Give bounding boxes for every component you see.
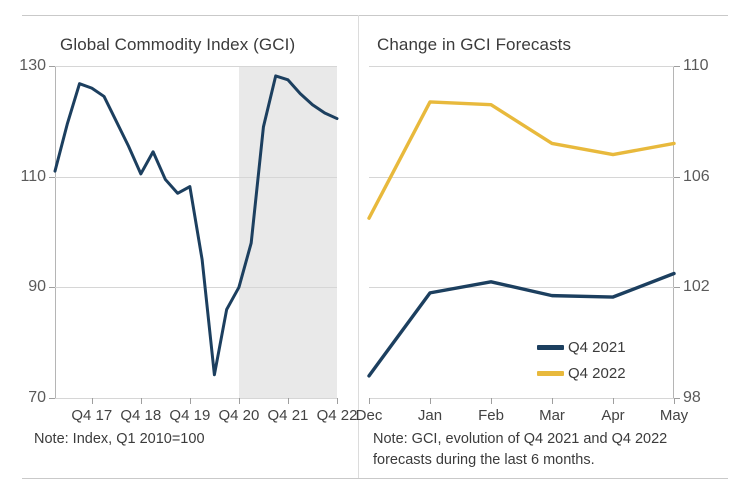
x-axis-tick-label: Q4 22: [317, 408, 358, 423]
y-axis-tick-label: 110: [683, 58, 709, 74]
x-tick-mark: [337, 398, 338, 404]
right-panel-title: Change in GCI Forecasts: [377, 35, 571, 55]
x-tick-mark: [613, 398, 614, 404]
series-layer: [55, 66, 337, 398]
bottom-divider: [22, 478, 728, 479]
x-tick-mark: [369, 398, 370, 404]
x-tick-mark: [239, 398, 240, 404]
x-tick-mark: [430, 398, 431, 404]
x-tick-mark: [552, 398, 553, 404]
x-axis-tick-label: Jan: [418, 408, 442, 423]
x-axis-tick-label: Q4 19: [169, 408, 210, 423]
gridline: [55, 398, 337, 399]
x-axis-tick-label: Q4 21: [268, 408, 309, 423]
series-line: [369, 274, 674, 376]
x-tick-mark: [141, 398, 142, 404]
x-tick-mark: [288, 398, 289, 404]
y-tick-mark: [674, 287, 680, 288]
x-axis-tick-label: Q4 18: [120, 408, 161, 423]
gci-index-plot: 1301109070Q4 17Q4 18Q4 19Q4 20Q4 21Q4 22: [55, 66, 337, 398]
gridline: [369, 398, 674, 399]
x-tick-mark: [92, 398, 93, 404]
gci-forecast-plot: Q4 2021Q4 2022 11010610298DecJanFebMarAp…: [369, 66, 674, 398]
x-axis-tick-label: Feb: [478, 408, 504, 423]
x-axis-tick-label: Apr: [601, 408, 624, 423]
right-panel-note: Note: GCI, evolution of Q4 2021 and Q4 2…: [373, 429, 713, 471]
y-axis-tick-label: 110: [20, 169, 46, 185]
y-tick-mark: [674, 66, 680, 67]
y-axis-tick-label: 102: [683, 279, 710, 295]
series-line: [55, 76, 337, 375]
chart-figure: Global Commodity Index (GCI) 1301109070Q…: [0, 0, 750, 504]
x-tick-mark: [674, 398, 675, 404]
left-panel-note: Note: Index, Q1 2010=100: [34, 429, 334, 450]
series-layer: [369, 66, 674, 398]
x-axis-tick-label: Mar: [539, 408, 565, 423]
y-axis-tick-label: 90: [28, 279, 46, 295]
x-tick-mark: [491, 398, 492, 404]
y-axis-tick-label: 98: [683, 390, 701, 406]
x-tick-mark: [190, 398, 191, 404]
y-axis-tick-label: 130: [19, 58, 46, 74]
y-tick-mark: [49, 398, 55, 399]
series-line: [369, 102, 674, 218]
y-axis-tick-label: 106: [683, 169, 710, 185]
x-axis-tick-label: Q4 20: [218, 408, 259, 423]
x-axis-tick-label: Q4 17: [71, 408, 112, 423]
left-panel-title: Global Commodity Index (GCI): [60, 35, 295, 55]
x-axis-tick-label: Dec: [356, 408, 383, 423]
y-axis-tick-label: 70: [28, 390, 46, 406]
left-panel: Global Commodity Index (GCI) 1301109070Q…: [22, 15, 358, 478]
right-panel: Change in GCI Forecasts Q4 2021Q4 2022 1…: [359, 15, 728, 478]
y-tick-mark: [674, 177, 680, 178]
x-axis-tick-label: May: [660, 408, 688, 423]
